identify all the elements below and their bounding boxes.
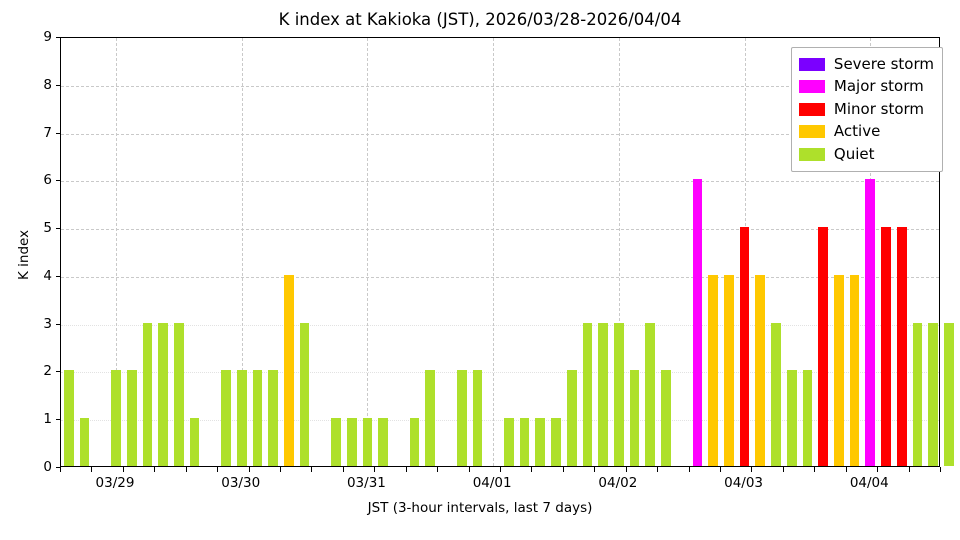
bar [363,418,373,466]
y-tick-label: 7 [0,125,52,141]
y-tick-label: 5 [0,220,52,236]
x-tick-label: 04/04 [850,475,889,491]
bar [787,370,797,466]
legend-item: Major storm [799,76,934,99]
bar [347,418,357,466]
x-tick-mark [531,467,532,472]
bar [158,323,168,466]
legend: Severe stormMajor stormMinor stormActive… [791,47,943,172]
bar [300,323,310,466]
x-axis-label: JST (3-hour intervals, last 7 days) [0,500,960,516]
bar [944,323,954,466]
x-tick-mark [311,467,312,472]
x-tick-mark [783,467,784,472]
bar [143,323,153,466]
bar [881,227,891,466]
bar [740,227,750,466]
x-tick-mark [500,467,501,472]
x-tick-label: 04/02 [598,475,637,491]
y-tick-label: 3 [0,316,52,332]
y-tick-label: 2 [0,363,52,379]
bar [425,370,435,466]
bar [913,323,923,466]
bar [284,275,294,466]
x-tick-mark [626,467,627,472]
legend-label: Severe storm [834,57,934,72]
x-tick-mark [217,467,218,472]
legend-item: Severe storm [799,53,934,76]
x-tick-label: 03/31 [347,475,386,491]
x-tick-mark [469,467,470,472]
bar [567,370,577,466]
x-tick-mark [406,467,407,472]
bar [771,323,781,466]
bar [457,370,467,466]
bar [661,370,671,466]
y-tick-label: 0 [0,459,52,475]
bar [378,418,388,466]
bar [268,370,278,466]
bar [535,418,545,466]
bar [520,418,530,466]
bar [127,370,137,466]
x-tick-label: 04/01 [473,475,512,491]
legend-swatch [799,148,825,161]
legend-swatch [799,80,825,93]
legend-label: Quiet [834,147,875,162]
x-tick-mark [877,467,878,472]
bar [253,370,263,466]
x-tick-mark [123,467,124,472]
bar [755,275,765,466]
x-tick-mark [846,467,847,472]
bar [724,275,734,466]
bar [598,323,608,466]
x-tick-mark [689,467,690,472]
y-tick-label: 9 [0,29,52,45]
legend-swatch [799,58,825,71]
bar [834,275,844,466]
y-tick-label: 6 [0,172,52,188]
bar [583,323,593,466]
x-tick-mark [909,467,910,472]
y-tick-label: 4 [0,268,52,284]
bar [473,370,483,466]
bar [410,418,420,466]
legend-label: Major storm [834,79,924,94]
bar [504,418,514,466]
figure: K index at Kakioka (JST), 2026/03/28-202… [0,0,960,540]
x-tick-label: 03/29 [96,475,135,491]
bar [865,179,875,466]
x-tick-mark [594,467,595,472]
x-tick-mark [280,467,281,472]
x-tick-mark [343,467,344,472]
y-tick-label: 8 [0,77,52,93]
bar [64,370,74,466]
bar [190,418,200,466]
x-tick-mark [60,467,61,472]
x-tick-label: 03/30 [221,475,260,491]
chart-title: K index at Kakioka (JST), 2026/03/28-202… [0,10,960,29]
x-tick-mark [657,467,658,472]
bar [174,323,184,466]
bar [708,275,718,466]
bar [803,370,813,466]
legend-label: Active [834,124,880,139]
x-tick-mark [186,467,187,472]
bar [111,370,121,466]
x-tick-mark [91,467,92,472]
legend-swatch [799,125,825,138]
bar [221,370,231,466]
bar [818,227,828,466]
legend-item: Quiet [799,143,934,166]
legend-item: Active [799,121,934,144]
x-tick-mark [249,467,250,472]
bar [237,370,247,466]
x-tick-mark [751,467,752,472]
y-tick-label: 1 [0,411,52,427]
bar [331,418,341,466]
bar [614,323,624,466]
bar [897,227,907,466]
x-tick-mark [437,467,438,472]
x-tick-label: 04/03 [724,475,763,491]
x-tick-mark [374,467,375,472]
x-tick-mark [814,467,815,472]
legend-item: Minor storm [799,98,934,121]
bar [630,370,640,466]
bar [928,323,938,466]
bar [850,275,860,466]
x-tick-mark [154,467,155,472]
bar [693,179,703,466]
bar [80,418,90,466]
bar [645,323,655,466]
x-tick-mark [563,467,564,472]
bar [551,418,561,466]
legend-swatch [799,103,825,116]
x-tick-mark [940,467,941,472]
x-tick-mark [720,467,721,472]
legend-label: Minor storm [834,102,924,117]
